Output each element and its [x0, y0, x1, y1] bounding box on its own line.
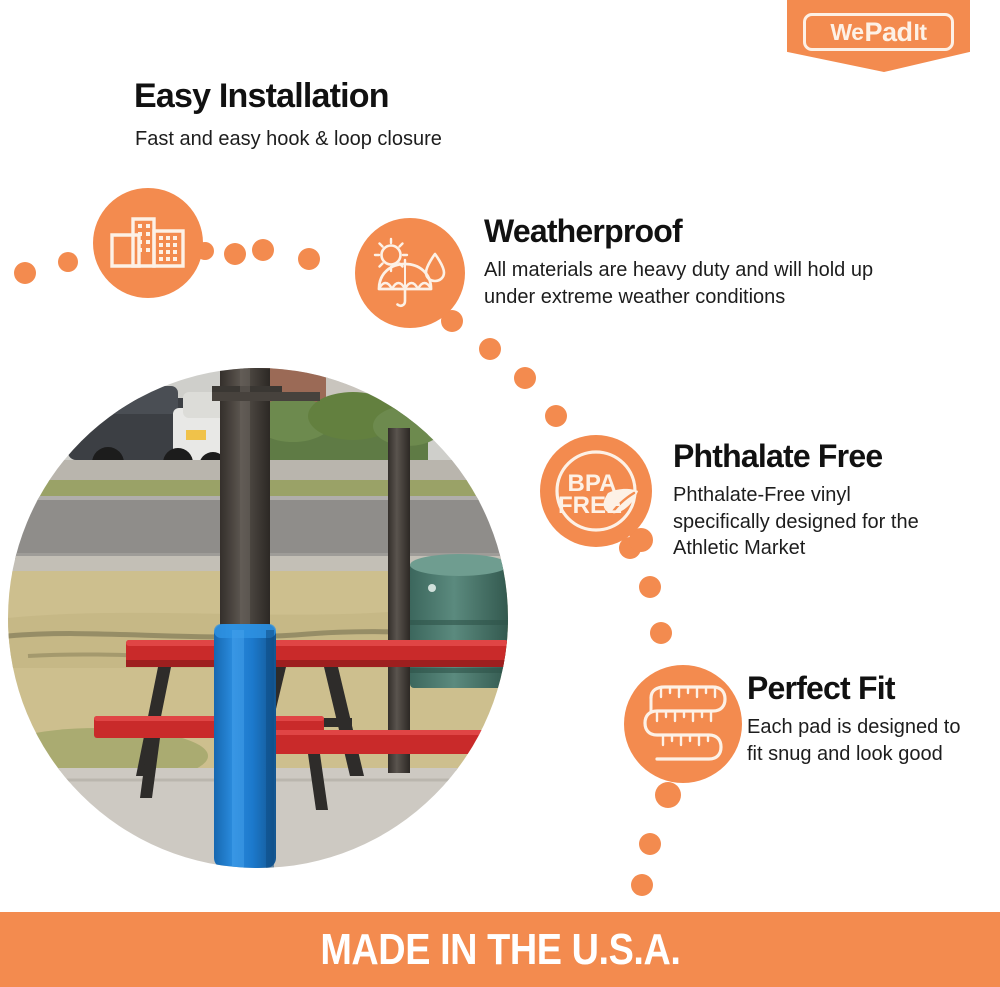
- trail-dot: [514, 367, 536, 389]
- product-photo: [8, 368, 508, 868]
- trail-dot: [650, 622, 672, 644]
- icon-nub: [655, 782, 681, 808]
- trail-dot: [631, 874, 653, 896]
- trail-dot: [545, 405, 567, 427]
- trail-dot: [479, 338, 501, 360]
- made-in-usa-banner: MADE IN THE U.S.A.: [0, 912, 1000, 987]
- feature-title-perfect-fit: Perfect Fit: [747, 672, 895, 706]
- bpa-free-leaf-icon: BPA FREE: [540, 435, 652, 547]
- building-icon: [93, 188, 203, 298]
- feature-subtitle-perfect-fit: Each pad is designed to fit snug and loo…: [747, 714, 972, 767]
- brand-logo: We Pad It: [803, 13, 954, 51]
- sun-umbrella-raindrop-icon: [355, 218, 465, 328]
- feature-subtitle-phthalate-free: Phthalate-Free vinyl specifically design…: [673, 482, 933, 562]
- feature-title-weatherproof: Weatherproof: [484, 215, 682, 249]
- trail-dot: [58, 252, 78, 272]
- feature-title-phthalate-free: Phthalate Free: [673, 440, 882, 474]
- feature-subtitle-easy-installation: Fast and easy hook & loop closure: [135, 126, 442, 153]
- logo-text-it: It: [914, 21, 927, 44]
- measuring-tape-icon: [624, 665, 742, 783]
- feature-subtitle-weatherproof: All materials are heavy duty and will ho…: [484, 257, 904, 310]
- trail-dot: [14, 262, 36, 284]
- trail-dot: [224, 243, 246, 265]
- trail-dot: [639, 576, 661, 598]
- infographic-root: We Pad It Easy Installation Fast and eas…: [0, 0, 1000, 987]
- logo-text-we: We: [830, 21, 863, 44]
- logo-text-pad: Pad: [865, 19, 913, 46]
- trail-dot: [252, 239, 274, 261]
- made-in-usa-text: MADE IN THE U.S.A.: [320, 925, 680, 975]
- trail-dot: [298, 248, 320, 270]
- bpa-icon-line2: FREE: [558, 492, 622, 519]
- feature-title-easy-installation: Easy Installation: [134, 79, 389, 115]
- trail-dot: [639, 833, 661, 855]
